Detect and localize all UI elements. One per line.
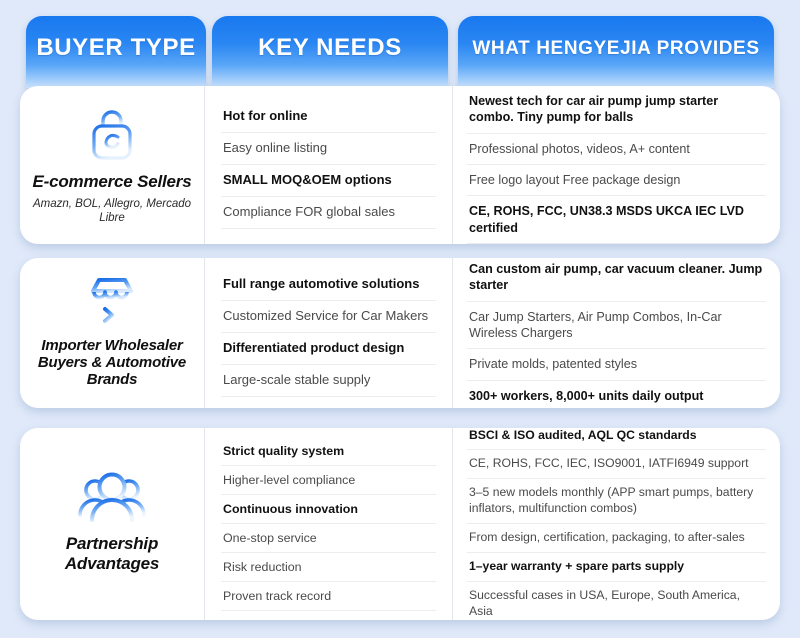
provides-item: Successful cases in USA, Europe, South A… — [467, 582, 766, 620]
key-needs-cell: Hot for online Easy online listing SMALL… — [205, 86, 453, 244]
header-tab-key-needs[interactable]: KEY NEEDS — [212, 16, 448, 88]
header-tab-label: KEY NEEDS — [258, 36, 402, 60]
provides-item: 3–5 new models monthly (APP smart pumps,… — [467, 479, 766, 524]
buyer-type-subtitle: Amazn, BOL, Allegro, Mercado Libre — [26, 197, 198, 226]
storefront-import-arrow-icon — [81, 273, 143, 331]
key-need-item: Compliance FOR global sales — [221, 197, 436, 229]
table-row-partnership-advantages: Partnership Advantages Strict quality sy… — [20, 428, 780, 620]
shopping-bag-e-icon — [81, 104, 143, 166]
key-need-item: Easy online listing — [221, 133, 436, 165]
provides-item: Can custom air pump, car vacuum cleaner.… — [467, 258, 766, 302]
key-needs-cell: Full range automotive solutions Customiz… — [205, 258, 453, 408]
key-need-item: Large-scale stable supply — [221, 365, 436, 397]
provides-item: From design, certification, packaging, t… — [467, 524, 766, 553]
provides-item: Car Jump Starters, Air Pump Combos, In-C… — [467, 302, 766, 350]
header-tab-label: BUYER TYPE — [36, 36, 195, 60]
key-need-item: Higher-level compliance — [221, 466, 436, 495]
table-row-ecommerce-sellers: E-commerce Sellers Amazn, BOL, Allegro, … — [20, 86, 780, 244]
buyer-type-title: E-commerce Sellers — [33, 172, 192, 192]
key-need-item: Continuous innovation — [221, 495, 436, 524]
header-tab-what-hengyejia-provides[interactable]: WHAT HENGYEJIA PROVIDES — [458, 16, 774, 88]
key-need-item: SMALL MOQ&OEM options — [221, 165, 436, 197]
key-need-item: One-stop service — [221, 524, 436, 553]
provides-cell: BSCI & ISO audited, AQL QC standards CE,… — [453, 428, 780, 620]
provides-item: Newest tech for car air pump jump starte… — [467, 86, 766, 134]
key-need-item: Customized Service for Car Makers — [221, 301, 436, 333]
key-needs-cell: Strict quality system Higher-level compl… — [205, 428, 453, 620]
key-need-item: Full range automotive solutions — [221, 269, 436, 301]
provides-item: Professional photos, videos, A+ content — [467, 134, 766, 165]
provides-item: CE, ROHS, FCC, UN38.3 MSDS UKCA IEC LVD … — [467, 196, 766, 244]
table-row-importer-wholesaler: Importer Wholesaler Buyers & Automotive … — [20, 258, 780, 408]
people-group-icon — [75, 470, 149, 528]
buyer-type-title: Partnership Advantages — [26, 534, 198, 573]
provides-cell: Can custom air pump, car vacuum cleaner.… — [453, 258, 780, 408]
buyer-type-cell: E-commerce Sellers Amazn, BOL, Allegro, … — [20, 86, 205, 244]
provides-item: Private molds, patented styles — [467, 349, 766, 380]
key-need-item: Risk reduction — [221, 553, 436, 582]
provides-item: CE, ROHS, FCC, IEC, ISO9001, IATFI6949 s… — [467, 450, 766, 479]
buyer-type-cell: Importer Wholesaler Buyers & Automotive … — [20, 258, 205, 408]
key-need-item: Strict quality system — [221, 437, 436, 466]
header-tab-buyer-type[interactable]: BUYER TYPE — [26, 16, 206, 88]
provides-cell: Newest tech for car air pump jump starte… — [453, 86, 780, 244]
provides-item: 300+ workers, 8,000+ units daily output — [467, 381, 766, 408]
provides-item: 1–year warranty + spare parts supply — [467, 553, 766, 582]
buyer-type-title: Importer Wholesaler Buyers & Automotive … — [26, 337, 198, 389]
header-tab-bar: BUYER TYPE KEY NEEDS WHAT HENGYEJIA PROV… — [0, 16, 800, 88]
key-need-item: Hot for online — [221, 101, 436, 133]
provides-item: BSCI & ISO audited, AQL QC standards — [467, 428, 766, 450]
buyer-type-cell: Partnership Advantages — [20, 428, 205, 620]
comparison-table-infographic: BUYER TYPE KEY NEEDS WHAT HENGYEJIA PROV… — [0, 0, 800, 638]
key-need-item: Differentiated product design — [221, 333, 436, 365]
header-tab-label: WHAT HENGYEJIA PROVIDES — [472, 39, 759, 58]
key-need-item: Proven track record — [221, 582, 436, 611]
provides-item: Free logo layout Free package design — [467, 165, 766, 196]
